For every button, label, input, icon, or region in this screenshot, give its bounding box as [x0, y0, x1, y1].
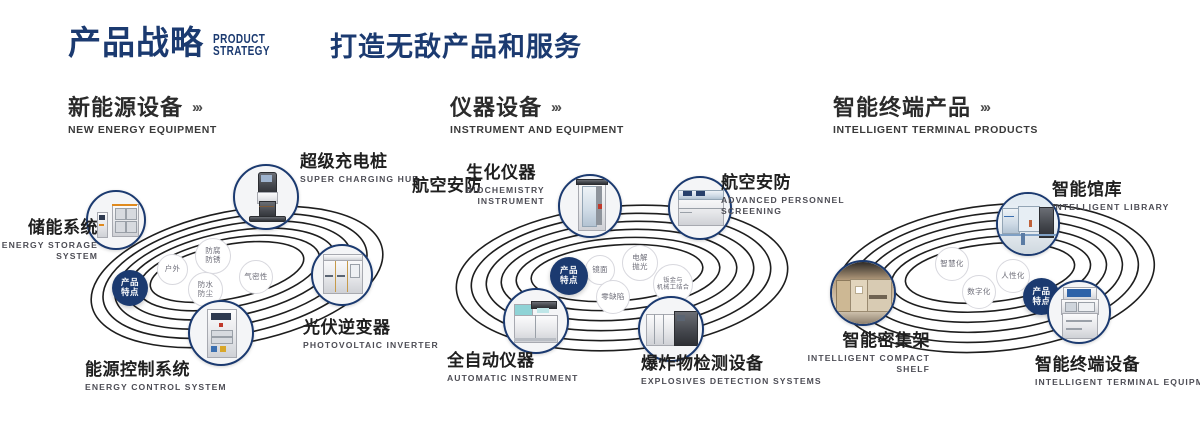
node-intelligent-library[interactable] — [996, 192, 1060, 256]
cluster-new-energy: 防腐 防锈 户外 防水 防尘 气密性 产品 特点 — [40, 160, 440, 390]
node-intelligent-terminal-equipment[interactable] — [1047, 280, 1111, 344]
product-strategy-infographic: 产品战略 PRODUCT STRATEGY 打造无敌产品和服务 新能源设备 ››… — [0, 0, 1200, 422]
section-title-cn: 仪器设备 ››› — [450, 96, 624, 120]
label-photovoltaic-inverter: 光伏逆变器 PHOTOVOLTAIC INVERTER — [303, 318, 439, 351]
node-explosives-detection-systems[interactable] — [638, 296, 704, 362]
node-photovoltaic-inverter[interactable] — [311, 244, 373, 306]
section-title-intelligent-terminal: 智能终端产品 ››› INTELLIGENT TERMINAL PRODUCTS — [833, 96, 1038, 136]
section-title-en: INSTRUMENT AND EQUIPMENT — [450, 124, 624, 136]
automatic-instrument-icon — [505, 290, 567, 352]
section-title-new-energy: 新能源设备 ››› NEW ENERGY EQUIPMENT — [68, 96, 217, 136]
feature-bubble-outdoor: 户外 — [157, 254, 188, 285]
label-intelligent-library: 智能馆库 INTELLIGENT LIBRARY — [1052, 180, 1170, 213]
feature-bubble-digital: 数字化 — [962, 275, 996, 309]
library-room-icon — [998, 194, 1058, 254]
label-automatic-instrument: 全自动仪器 AUTOMATIC INSTRUMENT — [447, 351, 578, 384]
biochemistry-scanner-icon — [560, 176, 620, 236]
node-biochemistry-instrument[interactable] — [558, 174, 622, 238]
label-energy-storage-system: 储能系统 ENERGY STORAGE SYSTEM — [0, 218, 98, 262]
page-title-en-line2: STRATEGY — [213, 45, 270, 57]
feature-bubble-airtight: 气密性 — [239, 260, 273, 294]
feature-bubble-smart: 智慧化 — [935, 247, 969, 281]
feature-bubble-electropolish: 电解 抛光 — [622, 245, 658, 281]
explosives-detector-icon — [640, 298, 702, 360]
section-title-cn: 新能源设备 ››› — [68, 96, 217, 120]
page-subtitle: 打造无敌产品和服务 — [330, 34, 582, 61]
chevron-right-icon: ››› — [192, 100, 201, 117]
compact-shelf-icon — [832, 262, 894, 324]
section-title-en: INTELLIGENT TERMINAL PRODUCTS — [833, 124, 1038, 136]
charging-pile-icon — [235, 166, 297, 228]
section-title-cn: 智能终端产品 ››› — [833, 96, 1038, 120]
node-automatic-instrument[interactable] — [503, 288, 569, 354]
page-title: 产品战略 PRODUCT STRATEGY — [68, 26, 284, 59]
label-super-charging-hub: 超级充电桩 SUPER CHARGING HUB — [300, 152, 420, 185]
section-title-instrument: 仪器设备 ››› INSTRUMENT AND EQUIPMENT — [450, 96, 624, 136]
node-energy-control-system[interactable] — [188, 300, 254, 366]
section-label: 仪器设备 — [450, 96, 542, 120]
label-intelligent-terminal-equipment: 智能终端设备 INTELLIGENT TERMINAL EQUIPMENT — [1035, 355, 1200, 388]
center-bubble-product-features: 产品 特点 — [112, 270, 148, 306]
chevron-right-icon: ››› — [980, 100, 989, 117]
self-service-kiosk-icon — [1049, 282, 1109, 342]
feature-bubble-corrosion: 防腐 防锈 — [195, 238, 231, 274]
chevron-right-icon: ››› — [551, 100, 560, 117]
section-label: 智能终端产品 — [833, 96, 971, 120]
node-intelligent-compact-shelf[interactable] — [830, 260, 896, 326]
section-title-en: NEW ENERGY EQUIPMENT — [68, 124, 217, 136]
section-label: 新能源设备 — [68, 96, 183, 120]
page-title-en: PRODUCT STRATEGY — [213, 33, 270, 57]
label-biochemistry-instrument: 生化仪器 BIOCHEMISTRY INSTRUMENT — [466, 163, 545, 207]
label-intelligent-compact-shelf: 智能密集架 INTELLIGENT COMPACT SHELF — [790, 331, 930, 375]
node-super-charging-hub[interactable] — [233, 164, 299, 230]
pv-inverter-icon — [313, 246, 371, 304]
label-energy-control-system: 能源控制系统 ENERGY CONTROL SYSTEM — [85, 360, 227, 393]
feature-bubble-zero-defect: 零缺陷 — [596, 280, 630, 314]
page-title-cn: 产品战略 — [68, 26, 204, 59]
control-cabinet-icon — [190, 302, 252, 364]
